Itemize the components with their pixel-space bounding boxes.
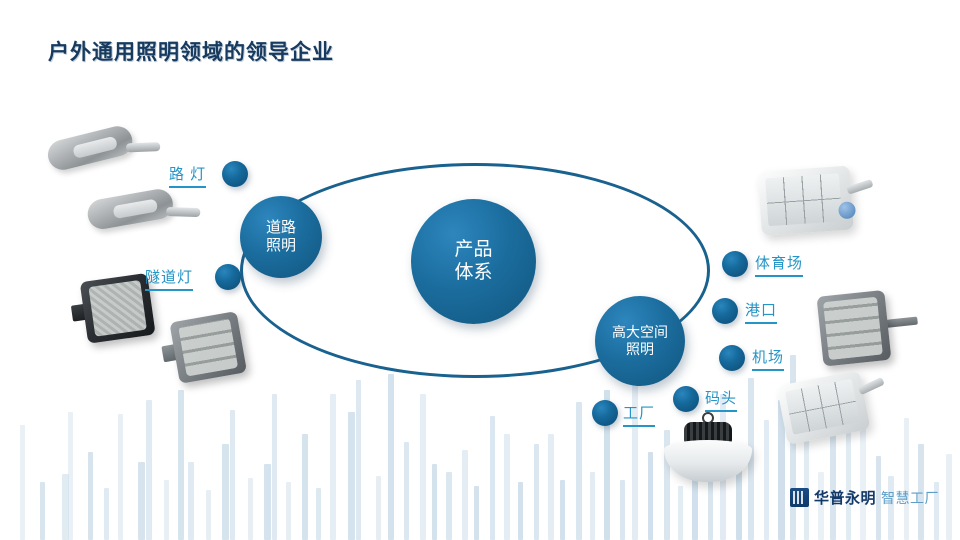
- decorative-bar: [648, 452, 653, 540]
- hub-highspace-line2: 照明: [626, 341, 654, 357]
- decorative-bar: [230, 410, 235, 540]
- decorative-bar: [446, 472, 452, 540]
- bullet-dot-tunnel-light[interactable]: [215, 264, 241, 290]
- product-stadium-light: [758, 164, 873, 243]
- decorative-bar: [118, 414, 123, 540]
- decorative-bar: [548, 434, 554, 540]
- company-logo: 华普永明 智慧工厂: [790, 487, 939, 508]
- hub-road-line1: 道路: [266, 219, 296, 236]
- decorative-bar: [534, 444, 539, 540]
- led-grid: [765, 173, 842, 226]
- decorative-bar: [420, 394, 426, 540]
- bullet-dot-airport[interactable]: [719, 345, 745, 371]
- reflector-dome: [664, 440, 752, 482]
- decorative-bar: [376, 476, 381, 540]
- product-port-light: [816, 287, 915, 368]
- decorative-bar: [620, 480, 625, 540]
- leaf-label-port[interactable]: 港口: [745, 299, 777, 324]
- decorative-bar: [764, 420, 769, 540]
- decorative-bar: [518, 482, 523, 540]
- decorative-bar: [474, 486, 479, 540]
- decorative-bar: [222, 444, 229, 540]
- logo-sub-text: 智慧工厂: [881, 488, 939, 508]
- decorative-bar: [504, 434, 510, 540]
- hub-product-system[interactable]: 产品 体系: [411, 199, 536, 324]
- decorative-bar: [356, 380, 361, 540]
- lamp-arm: [166, 207, 200, 217]
- decorative-bar: [68, 412, 73, 540]
- leaf-label-street-lamp[interactable]: 路 灯: [169, 163, 206, 188]
- decorative-bar: [576, 402, 582, 540]
- hub-highspace-line1: 高大空间: [612, 324, 668, 340]
- hub-high-space-lighting[interactable]: 高大空间 照明: [595, 296, 685, 386]
- product-tunnel-light-2: [158, 312, 241, 382]
- bullet-dot-factory[interactable]: [592, 400, 618, 426]
- logo-mark-icon: [790, 488, 809, 507]
- leaf-label-tunnel-light[interactable]: 隧道灯: [145, 266, 193, 291]
- led-face: [88, 280, 146, 337]
- decorative-bar: [432, 464, 437, 540]
- page-title: 户外通用照明领域的领导企业: [48, 36, 334, 66]
- decorative-bar: [888, 476, 894, 540]
- decorative-bar: [590, 472, 595, 540]
- product-high-bay-light: [658, 412, 756, 494]
- hub-road-line2: 照明: [266, 237, 296, 254]
- decorative-bar: [138, 462, 145, 540]
- bullet-dot-port[interactable]: [712, 298, 738, 324]
- decorative-bar: [164, 480, 169, 540]
- decorative-bar: [248, 478, 253, 540]
- decorative-bar: [88, 452, 93, 540]
- decorative-bar: [404, 442, 409, 540]
- leaf-label-wharf[interactable]: 码头: [705, 387, 737, 412]
- lamp-arm: [126, 142, 160, 152]
- blue-knob: [838, 201, 856, 219]
- led-face: [823, 297, 883, 360]
- decorative-bar: [316, 488, 321, 540]
- product-street-lamp-2: [85, 183, 200, 241]
- logo-brand-text: 华普永明: [814, 487, 876, 508]
- leaf-label-stadium[interactable]: 体育场: [755, 252, 803, 277]
- bullet-dot-stadium[interactable]: [722, 251, 748, 277]
- decorative-bar: [678, 486, 683, 540]
- decorative-bar: [330, 394, 336, 540]
- decorative-bar: [490, 416, 495, 540]
- leaf-label-factory[interactable]: 工厂: [623, 402, 655, 427]
- decorative-bar: [846, 432, 851, 540]
- decorative-bar: [348, 412, 355, 540]
- bullet-dot-wharf[interactable]: [673, 386, 699, 412]
- bullet-dot-street-lamp[interactable]: [222, 161, 248, 187]
- decorative-bar: [264, 464, 271, 540]
- led-face: [178, 318, 238, 376]
- decorative-bar: [188, 462, 194, 540]
- slide-canvas: 户外通用照明领域的领导企业: [0, 0, 960, 540]
- decorative-bar: [20, 425, 25, 540]
- decorative-bar: [146, 400, 152, 540]
- decorative-bar: [302, 434, 308, 540]
- decorative-bar: [946, 454, 952, 540]
- decorative-bar: [388, 374, 394, 540]
- hub-center-line2: 体系: [454, 262, 492, 283]
- decorative-bar: [632, 374, 638, 540]
- decorative-bar: [104, 488, 109, 540]
- hub-road-lighting[interactable]: 道路 照明: [240, 196, 322, 278]
- leaf-label-airport[interactable]: 机场: [752, 346, 784, 371]
- product-street-lamp-1: [45, 117, 161, 182]
- decorative-bar: [178, 390, 184, 540]
- decorative-bar: [206, 490, 211, 540]
- decorative-bar: [904, 418, 909, 540]
- decorative-bar: [272, 394, 277, 540]
- decorative-bar: [286, 482, 291, 540]
- hub-center-line1: 产品: [454, 239, 492, 260]
- decorative-bar: [560, 480, 565, 540]
- decorative-bar: [40, 482, 45, 540]
- decorative-bar: [462, 450, 468, 540]
